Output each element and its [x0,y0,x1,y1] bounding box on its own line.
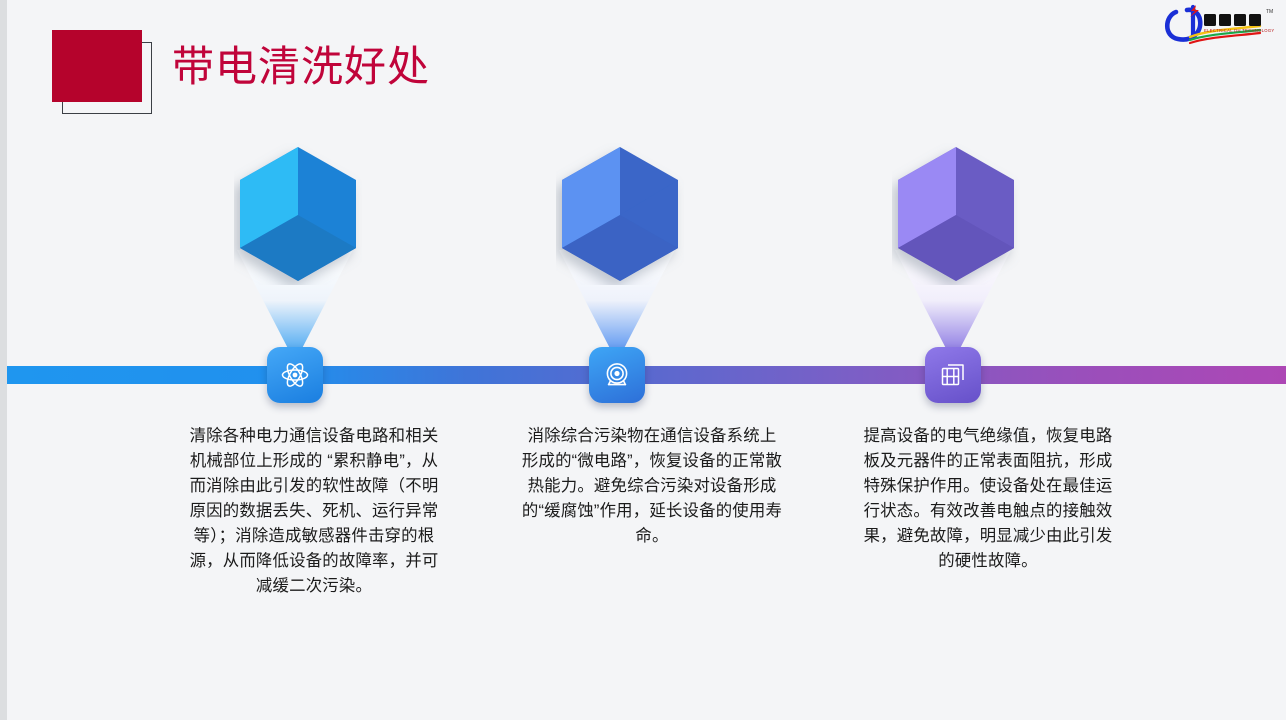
title-accent-box [52,30,142,102]
logo-mark-icon: TM ELECTRICAL DH TECHNOLOGY [1160,2,1278,48]
timeline-bar [7,366,1286,384]
left-edge-strip [0,0,7,720]
milestone-badge-1[interactable] [267,347,323,403]
milestone-badge-3[interactable] [925,347,981,403]
milestone-badge-2[interactable] [589,347,645,403]
atom-icon [280,360,310,390]
logo-en-text: ELECTRICAL DH TECHNOLOGY [1204,28,1275,33]
cube-icon-2 [556,143,684,285]
milestone-caption-3: 提高设备的电气绝缘值，恢复电路板及元器件的正常表面阻抗，形成特殊保护作用。使设备… [857,424,1119,574]
milestone-caption-2: 消除综合污染物在通信设备系统上形成的“微电路”，恢复设备的正常散热能力。避免综合… [521,424,783,549]
logo-trademark: TM [1266,9,1273,15]
cube-icon-1 [234,143,362,285]
film-strip-icon [938,360,968,390]
milestone-caption-1: 清除各种电力通信设备电路和相关机械部位上形成的 “累积静电”，从而消除由此引发的… [183,424,445,599]
slide-canvas: 带电清洗好处 TM ELECTRICAL DH TECHNOLOGY [0,0,1286,720]
page-title-block: 带电清洗好处 [52,30,452,125]
company-logo: TM ELECTRICAL DH TECHNOLOGY [1160,2,1278,48]
cube-icon-3 [892,143,1020,285]
page-title: 带电清洗好处 [172,28,430,106]
target-icon [602,360,632,390]
